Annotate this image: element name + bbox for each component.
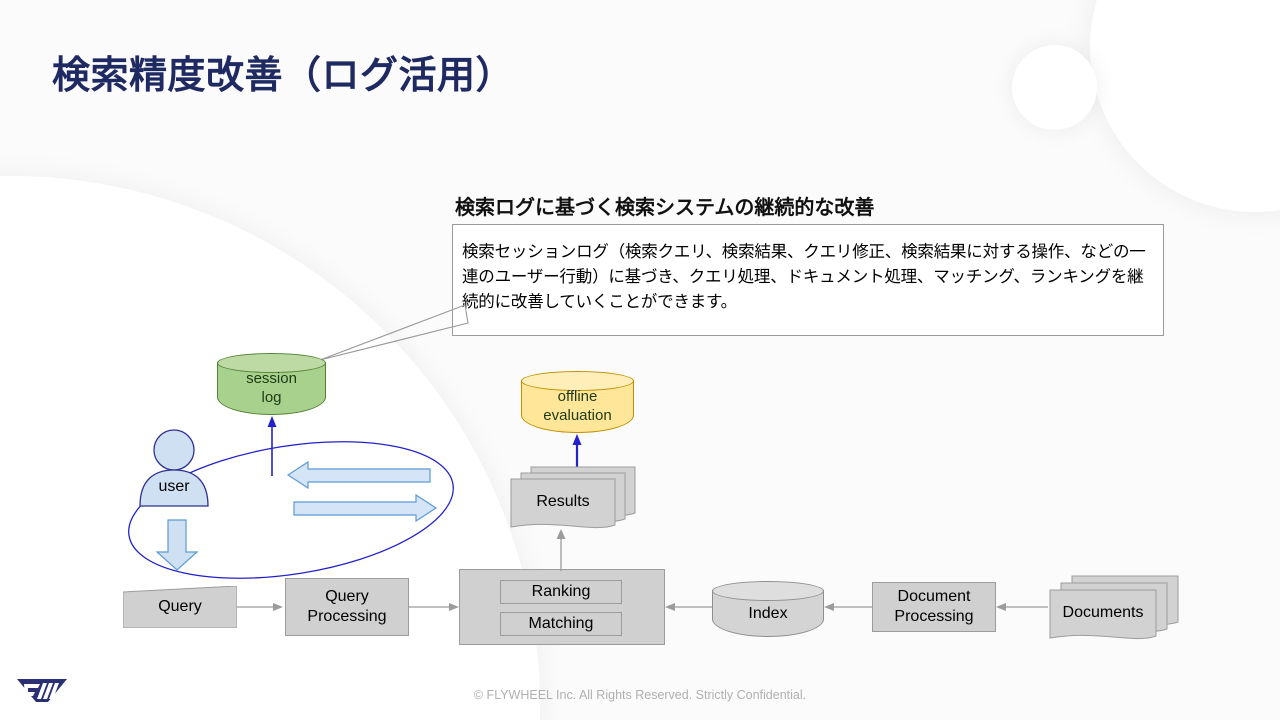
documents-label: Documents <box>1050 596 1156 630</box>
index-cylinder: Index <box>712 581 824 637</box>
arrow-index-to-matching <box>665 600 715 614</box>
callout-heading: 検索ログに基づく検索システムの継続的な改善 <box>455 191 874 220</box>
feedback-arrow-left <box>288 460 430 490</box>
document-processing-line1: Document <box>898 587 971 607</box>
page-title: 検索精度改善（ログ活用） <box>52 44 514 99</box>
query-arrow-right <box>294 493 436 523</box>
arrow-query-processing-to-matching <box>409 600 460 614</box>
footer-copyright: © FLYWHEEL Inc. All Rights Reserved. Str… <box>0 688 1280 702</box>
offline-evaluation-line2: evaluation <box>543 406 611 425</box>
matching-node: Matching <box>500 612 622 636</box>
index-label: Index <box>712 581 824 637</box>
callout-leader-line <box>320 305 470 365</box>
document-processing-node: Document Processing <box>872 582 996 632</box>
query-node: Query <box>123 586 237 628</box>
offline-evaluation-cylinder: offline evaluation <box>521 371 634 433</box>
user-avatar-icon: user <box>134 428 214 508</box>
decor-circle-top-right-large <box>1090 0 1280 212</box>
documents-stack: Documents <box>1048 572 1180 640</box>
user-down-arrow <box>155 520 199 570</box>
matching-label: Matching <box>529 614 594 634</box>
session-log-line2: log <box>261 388 281 407</box>
user-label: user <box>134 478 214 496</box>
session-log-cylinder: session log <box>217 353 326 415</box>
query-processing-node: Query Processing <box>285 578 409 636</box>
session-log-line1: session <box>246 369 297 388</box>
index-label-text: Index <box>748 604 787 623</box>
document-processing-line2: Processing <box>894 607 973 627</box>
session-log-label: session log <box>217 353 326 415</box>
offline-evaluation-label: offline evaluation <box>521 371 634 433</box>
callout-body-text: 検索セッションログ（検索クエリ、検索結果、クエリ修正、検索結果に対する操作、など… <box>462 240 1156 315</box>
slide-canvas: 検索精度改善（ログ活用） 検索ログに基づく検索システムの継続的な改善 検索セッシ… <box>0 0 1280 720</box>
arrow-ranking-to-results <box>554 527 568 571</box>
arrow-query-to-query-processing <box>237 600 284 614</box>
ranking-node: Ranking <box>500 580 622 604</box>
results-documents-stack: Results <box>509 463 637 529</box>
ranking-label: Ranking <box>532 582 591 602</box>
results-label: Results <box>511 485 615 519</box>
decor-circle-top-right-small <box>1012 45 1097 130</box>
query-processing-line2: Processing <box>307 607 386 627</box>
offline-evaluation-line1: offline <box>558 387 598 406</box>
arrow-documents-to-document-processing <box>996 600 1048 614</box>
arrow-document-processing-to-index <box>824 600 872 614</box>
query-processing-line1: Query <box>325 587 369 607</box>
query-label: Query <box>158 597 202 617</box>
